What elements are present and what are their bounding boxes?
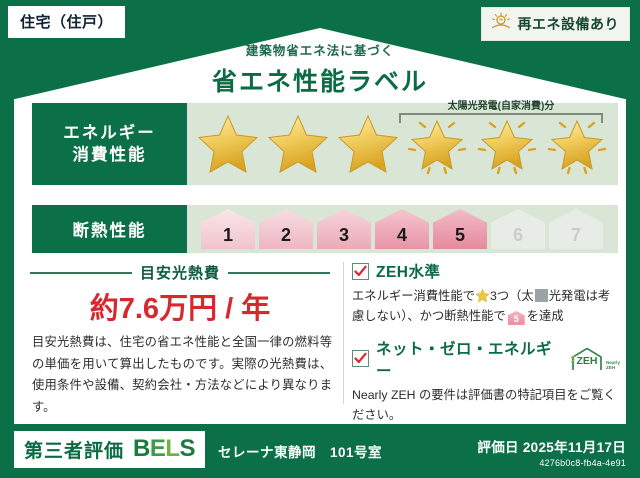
zeh-text-part1: エネルギー消費性能で <box>352 289 475 303</box>
insulation-level-6: 6 <box>491 209 545 249</box>
insulation-level-6-num: 6 <box>513 225 523 246</box>
right-column: ZEH水準 エネルギー消費性能で 3つ（太光発電は考慮しない）、かつ断熱性能で5… <box>352 260 620 436</box>
zeh-standard-block: ZEH水準 エネルギー消費性能で 3つ（太光発電は考慮しない）、かつ断熱性能で5… <box>352 260 620 327</box>
bels-logo: BELS <box>133 435 195 463</box>
check-icon <box>354 352 367 365</box>
svg-text:ZEH: ZEH <box>576 355 597 367</box>
zeh-standard-heading: ZEH水準 <box>352 260 620 282</box>
title-subtitle: 建築物省エネ法に基づく <box>0 40 640 59</box>
zeh-logo-sub-line2: ZEH <box>606 366 620 371</box>
evaluation-id: 4276b0c8-fb4a-4e91 <box>477 458 626 468</box>
insulation-level-2-num: 2 <box>281 225 291 246</box>
energy-heading-line2: 消費性能 <box>73 144 147 166</box>
insulation-level-5-num: 5 <box>455 225 465 246</box>
house-type-tag: 住宅（住戸） <box>8 6 125 38</box>
estimated-cost-value: 約7.6万円 / 年 <box>30 285 330 327</box>
insulation-level-5: 5 <box>433 209 487 249</box>
insulation-level-7-num: 7 <box>571 225 581 246</box>
insulation-level-1: 1 <box>201 209 255 249</box>
renewable-equipment-badge: 再エネ設備あり <box>481 7 631 41</box>
inline-insulation-level-badge: 5 <box>508 311 525 325</box>
energy-row-heading: エネルギー 消費性能 <box>32 103 187 185</box>
zeh-house-logo: ZEH Nearly ZEH <box>570 347 620 371</box>
cost-heading-label: 目安光熱費 <box>140 262 220 283</box>
check-icon <box>354 265 367 278</box>
energy-label-root: 住宅（住戸） 再エネ設備あり 建築物省エネ法に基づく 省エネ性能ラベル <box>0 0 640 478</box>
net-zero-body: Nearly ZEH の要件は評価書の特記項目をご覧ください。 <box>352 386 620 426</box>
renewable-badge-label: 再エネ設備あり <box>518 14 620 34</box>
footer-right-info: 評価日 2025年11月17日 4276b0c8-fb4a-4e91 <box>477 436 626 468</box>
bels-evaluation-box: 第三者評価 BELS <box>14 431 205 468</box>
zeh-logo-sub: Nearly ZEH <box>606 361 620 371</box>
zeh-text-part4: を達成 <box>527 309 564 323</box>
title-main: 省エネ性能ラベル <box>0 62 640 98</box>
star-2 <box>265 111 331 177</box>
column-divider <box>343 262 344 404</box>
label-title: 建築物省エネ法に基づく 省エネ性能ラベル <box>0 40 640 98</box>
net-zero-title: ネット・ゼロ・エネルギー <box>376 337 559 381</box>
zeh-standard-title: ZEH水準 <box>376 260 441 282</box>
star-3 <box>335 111 401 177</box>
cost-heading-rule-right <box>228 272 330 274</box>
insulation-level-7: 7 <box>549 209 603 249</box>
insulation-level-4: 4 <box>375 209 429 249</box>
energy-stars-area: 太陽光発電(自家消費)分 <box>187 103 618 185</box>
cost-heading-rule-left <box>30 272 132 274</box>
redacted-block <box>535 289 548 302</box>
zeh-standard-checkbox <box>352 263 369 280</box>
insulation-performance-row: 断熱性能 1 2 3 4 5 6 7 <box>32 205 618 253</box>
solar-bracket-label: 太陽光発電(自家消費)分 <box>399 97 603 112</box>
label-footer: 第三者評価 BELS セレーナ東静岡 101号室 評価日 2025年11月17日… <box>0 424 640 478</box>
insulation-levels-area: 1 2 3 4 5 6 7 <box>187 205 618 253</box>
cost-heading: 目安光熱費 <box>30 262 330 283</box>
energy-heading-line1: エネルギー <box>63 122 156 144</box>
inline-star-icon <box>475 288 490 303</box>
star-1 <box>195 111 261 177</box>
property-name: セレーナ東静岡 101号室 <box>218 441 382 461</box>
net-zero-block: ネット・ゼロ・エネルギー ZEH Nearly ZEH Nearly ZEH の… <box>352 337 620 426</box>
insulation-level-2: 2 <box>259 209 313 249</box>
evaluation-date: 評価日 2025年11月17日 <box>477 436 626 456</box>
insulation-level-1-num: 1 <box>223 225 233 246</box>
solar-bracket <box>399 113 603 123</box>
insulation-row-heading: 断熱性能 <box>32 205 187 253</box>
solar-sun-icon <box>490 12 512 35</box>
cost-note-text: 目安光熱費は、住宅の省エネ性能と全国一律の燃料等の単価を用いて算出したものです。… <box>32 332 332 418</box>
insulation-level-3-num: 3 <box>339 225 349 246</box>
energy-performance-row: エネルギー 消費性能 太陽光発電(自家消費)分 <box>32 103 618 185</box>
zeh-standard-body: エネルギー消費性能で 3つ（太光発電は考慮しない）、かつ断熱性能で5を達成 <box>352 287 620 327</box>
insulation-level-3: 3 <box>317 209 371 249</box>
net-zero-checkbox <box>352 350 369 367</box>
net-zero-heading: ネット・ゼロ・エネルギー ZEH Nearly ZEH <box>352 337 620 381</box>
bels-jp-label: 第三者評価 <box>24 436 124 463</box>
insulation-level-4-num: 4 <box>397 225 407 246</box>
zeh-text-part2: 3つ（太 <box>490 289 534 303</box>
